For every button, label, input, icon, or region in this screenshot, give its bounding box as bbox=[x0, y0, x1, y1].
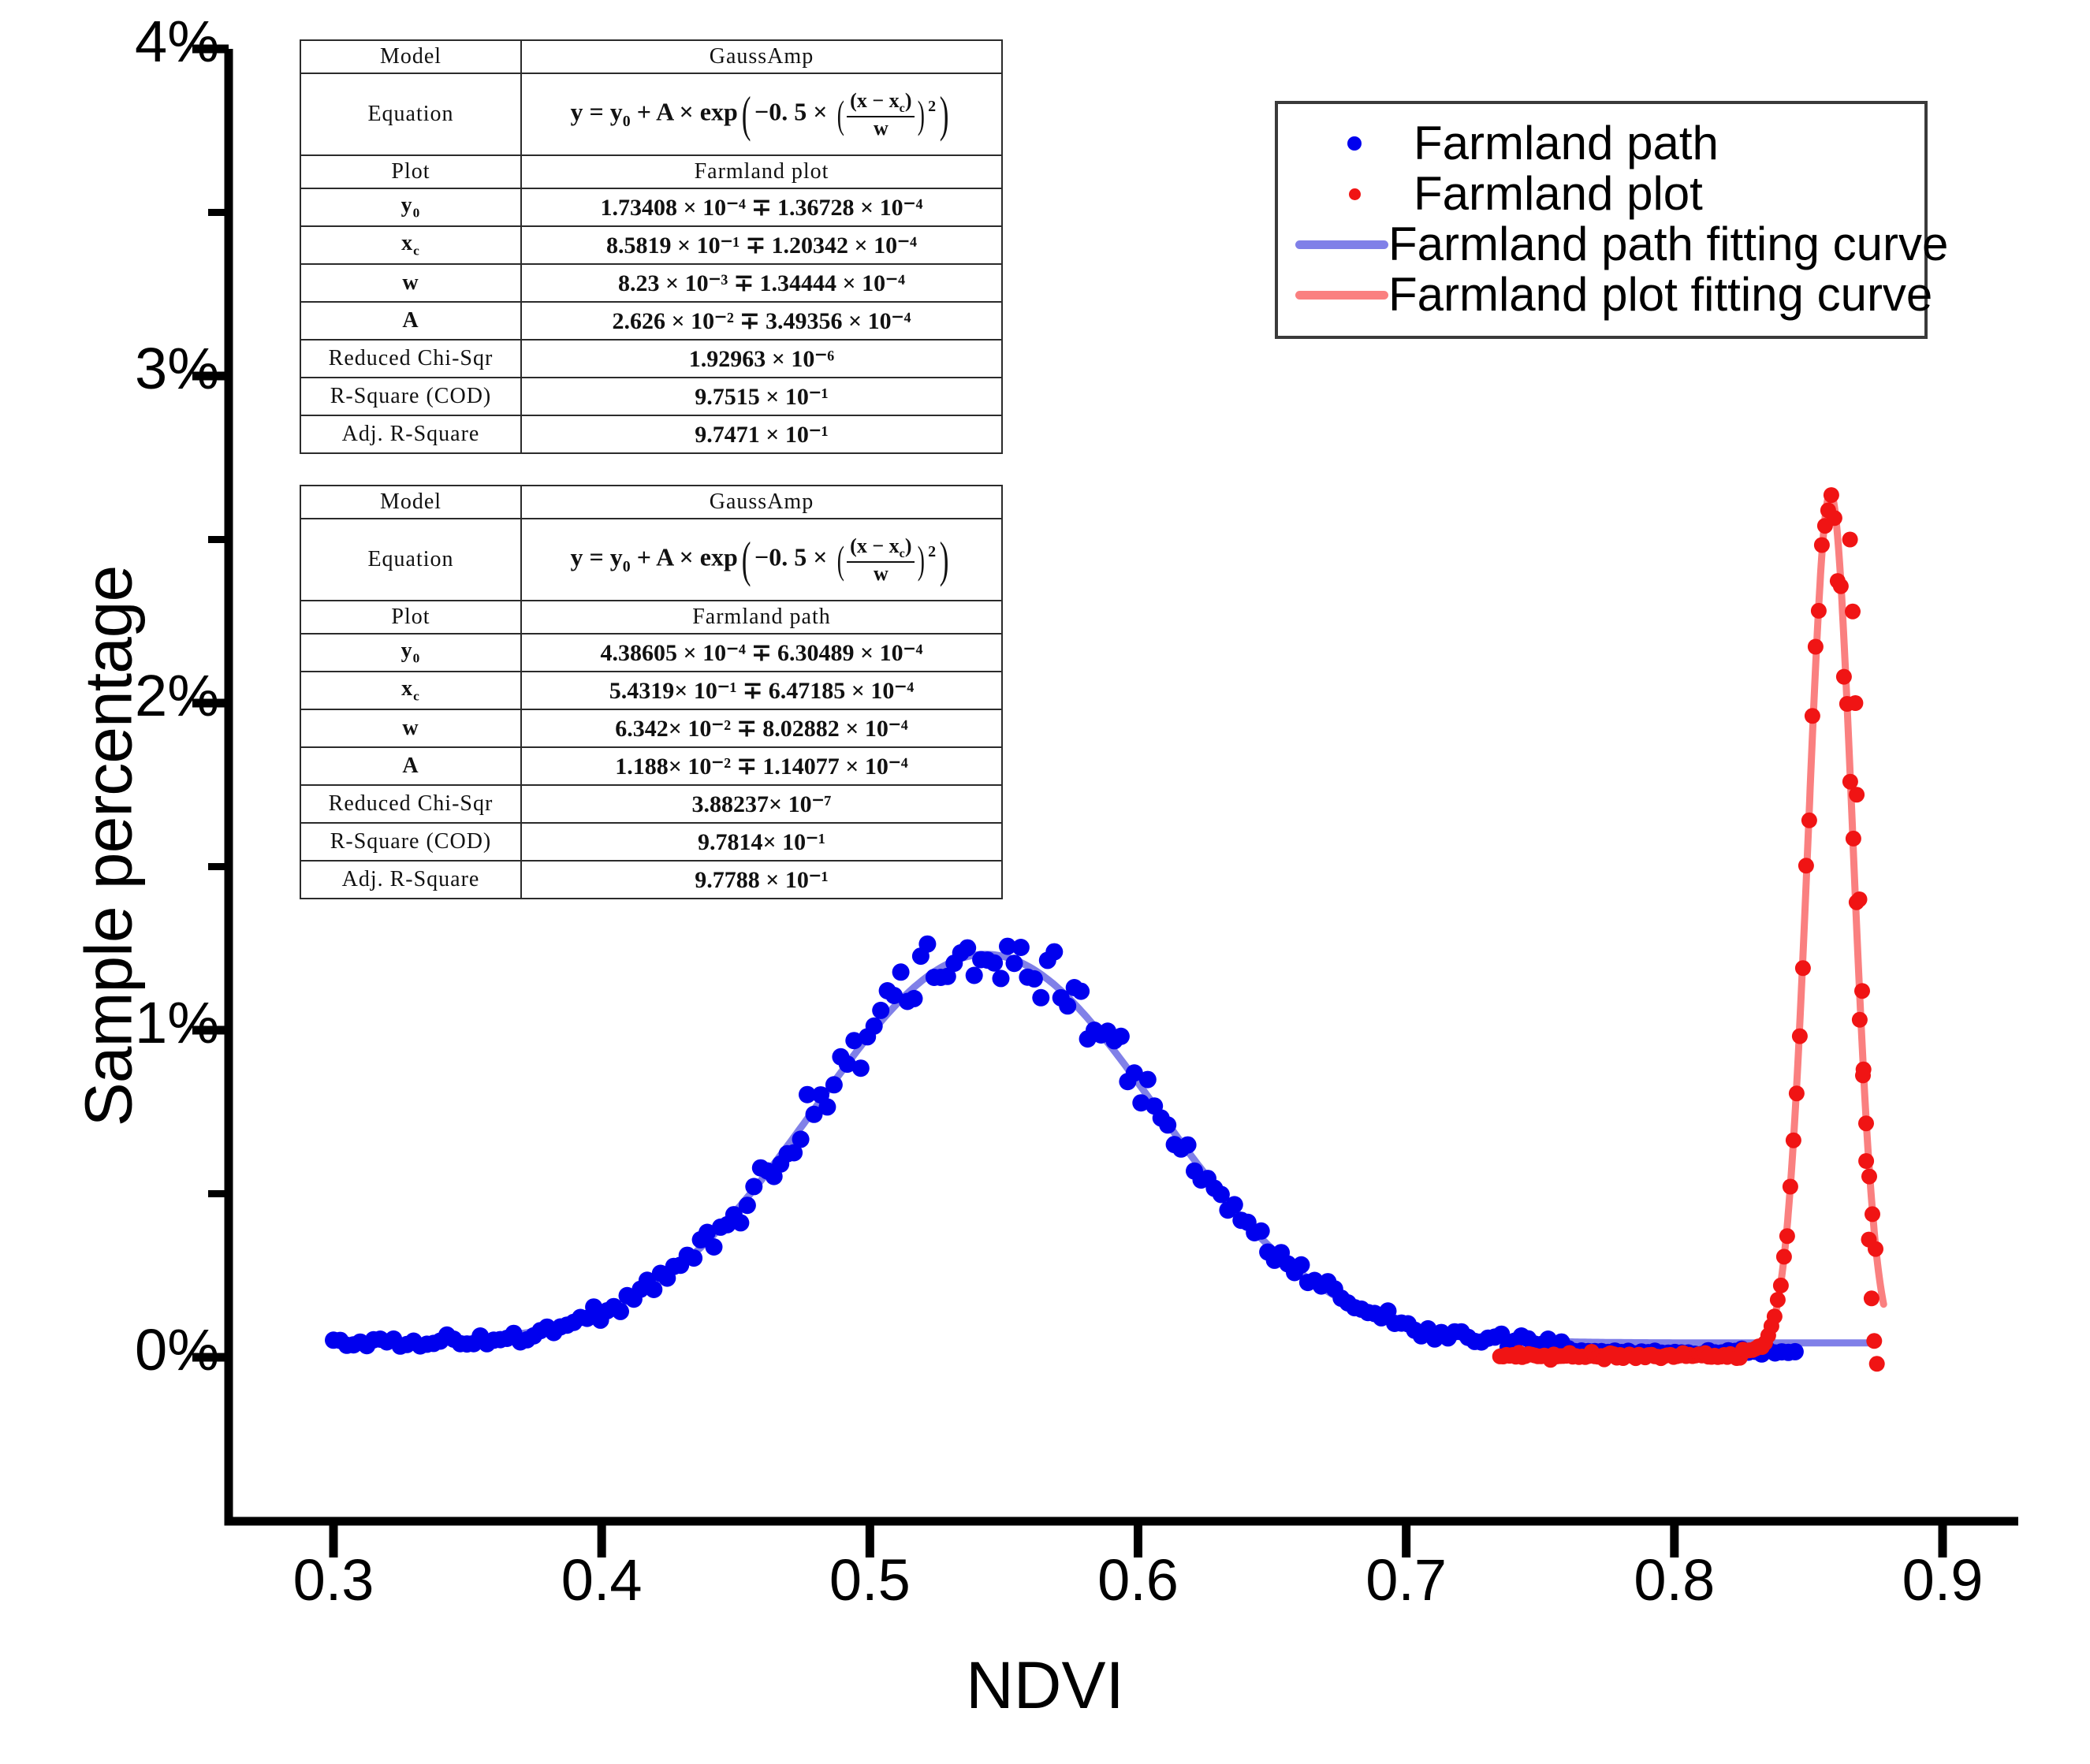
data-point bbox=[1824, 487, 1839, 503]
data-point bbox=[612, 1303, 629, 1320]
row-value-plot: Farmland plot bbox=[521, 155, 1002, 188]
table-row: xc 5.4319× 10⁻¹ ∓ 6.47185 × 10⁻⁴ bbox=[300, 672, 1002, 709]
legend-marker-line-blue bbox=[1295, 240, 1388, 249]
data-point bbox=[985, 955, 1003, 972]
x-tick-label: 0.9 bbox=[1864, 1546, 2021, 1613]
row-value-adj-r-square: 9.7788 × 10⁻¹ bbox=[521, 861, 1002, 899]
row-label-reduced-chi-sqr: Reduced Chi-Sqr bbox=[300, 340, 521, 378]
data-point bbox=[792, 1130, 810, 1148]
table-row: y0 4.38605 × 10⁻⁴ ∓ 6.30489 × 10⁻⁴ bbox=[300, 634, 1002, 672]
data-point bbox=[1767, 1308, 1783, 1324]
data-point bbox=[1808, 639, 1824, 655]
eq-num: (x − x bbox=[850, 89, 899, 112]
table-row: R-Square (COD) 9.7515 × 10⁻¹ bbox=[300, 378, 1002, 415]
data-point bbox=[959, 940, 976, 957]
legend-item-farmland-plot: Farmland plot bbox=[1295, 169, 1907, 219]
row-label-xc: xc bbox=[300, 672, 521, 709]
eq-lhs: y = y bbox=[571, 542, 623, 571]
data-point bbox=[1852, 1012, 1868, 1028]
legend-label: Farmland path fitting curve bbox=[1388, 221, 1948, 268]
x-axis-title: NDVI bbox=[0, 1647, 2090, 1724]
data-point bbox=[732, 1214, 749, 1231]
chart-legend: Farmland path Farmland plot Farmland pat… bbox=[1275, 101, 1928, 339]
table-row: A 2.626 × 10⁻² ∓ 3.49356 × 10⁻⁴ bbox=[300, 302, 1002, 340]
data-point bbox=[1856, 1062, 1872, 1077]
data-point bbox=[1012, 939, 1030, 956]
legend-item-farmland-plot-fitting-curve: Farmland plot fitting curve bbox=[1295, 270, 1907, 320]
row-value-a: 2.626 × 10⁻² ∓ 3.49356 × 10⁻⁴ bbox=[521, 302, 1002, 340]
data-point bbox=[1845, 604, 1861, 620]
row-label-y0: y0 bbox=[300, 188, 521, 226]
data-point bbox=[1032, 989, 1049, 1007]
x-tick-label: 0.8 bbox=[1596, 1546, 1753, 1613]
table-row: Equation y = y0 + A × exp(−0. 5 × ((x − … bbox=[300, 519, 1002, 601]
data-point bbox=[818, 1098, 836, 1115]
eq-numclose: ) bbox=[905, 534, 912, 557]
data-point bbox=[739, 1196, 756, 1214]
data-point bbox=[1827, 510, 1842, 526]
eq-numclose: ) bbox=[905, 89, 912, 112]
row-label-w: w bbox=[300, 709, 521, 747]
y-tick-label: 4% bbox=[135, 8, 219, 75]
row-value-xc: 8.5819 × 10⁻¹ ∓ 1.20342 × 10⁻⁴ bbox=[521, 226, 1002, 264]
data-point bbox=[1786, 1133, 1801, 1148]
row-label-model: Model bbox=[300, 40, 521, 73]
table-row: w 6.342× 10⁻² ∓ 8.02882 × 10⁻⁴ bbox=[300, 709, 1002, 747]
row-label-adj-r-square: Adj. R-Square bbox=[300, 861, 521, 899]
data-point bbox=[1805, 708, 1820, 724]
data-point bbox=[1865, 1206, 1880, 1222]
eq-sub0: 0 bbox=[623, 558, 631, 575]
data-point bbox=[1779, 1228, 1795, 1244]
legend-label: Farmland path bbox=[1414, 120, 1719, 167]
x-tick-label: 0.5 bbox=[791, 1546, 948, 1613]
x-tick-label: 0.4 bbox=[523, 1546, 680, 1613]
data-point bbox=[1861, 1169, 1877, 1185]
data-point bbox=[1846, 831, 1861, 847]
table-row: xc 8.5819 × 10⁻¹ ∓ 1.20342 × 10⁻⁴ bbox=[300, 226, 1002, 264]
row-label-y0: y0 bbox=[300, 634, 521, 672]
data-point bbox=[1006, 955, 1023, 972]
data-point bbox=[866, 1018, 883, 1035]
data-point bbox=[906, 990, 923, 1007]
data-point bbox=[993, 969, 1010, 987]
table-row: R-Square (COD) 9.7814× 10⁻¹ bbox=[300, 823, 1002, 861]
row-label-xc: xc bbox=[300, 226, 521, 264]
row-value-equation: y = y0 + A × exp(−0. 5 × ((x − xc)w)2) bbox=[521, 73, 1002, 155]
row-label-a: A bbox=[300, 302, 521, 340]
eq-den: w bbox=[847, 563, 915, 584]
data-point bbox=[1858, 1153, 1874, 1169]
data-point bbox=[1776, 1249, 1792, 1264]
fit-statistics-table-farmland-path: Model GaussAmp Equation y = y0 + A × exp… bbox=[300, 485, 1003, 899]
legend-label: Farmland plot fitting curve bbox=[1388, 271, 1932, 318]
data-point bbox=[1801, 813, 1817, 828]
row-value-model: GaussAmp bbox=[521, 40, 1002, 73]
data-point bbox=[1139, 1071, 1157, 1089]
eq-sub0: 0 bbox=[623, 113, 631, 130]
row-value-equation: y = y0 + A × exp(−0. 5 × ((x − xc)w)2) bbox=[521, 519, 1002, 601]
table-row: Model GaussAmp bbox=[300, 40, 1002, 73]
eq-mid: + A × exp bbox=[631, 542, 738, 571]
data-point bbox=[1864, 1290, 1880, 1306]
data-point bbox=[1849, 787, 1865, 802]
data-point bbox=[1045, 943, 1063, 961]
row-value-model: GaussAmp bbox=[521, 486, 1002, 519]
legend-marker-dot-blue bbox=[1295, 136, 1414, 151]
row-value-adj-r-square: 9.7471 × 10⁻¹ bbox=[521, 415, 1002, 453]
eq-neg: −0. 5 × bbox=[754, 97, 833, 125]
x-tick-label: 0.3 bbox=[255, 1546, 412, 1613]
x-tick-label: 0.6 bbox=[1060, 1546, 1217, 1613]
row-value-w: 6.342× 10⁻² ∓ 8.02882 × 10⁻⁴ bbox=[521, 709, 1002, 747]
data-point bbox=[1059, 997, 1076, 1014]
table-row: Plot Farmland path bbox=[300, 601, 1002, 634]
data-point bbox=[1858, 1115, 1874, 1131]
row-value-xc: 5.4319× 10⁻¹ ∓ 6.47185 × 10⁻⁴ bbox=[521, 672, 1002, 709]
eq-neg: −0. 5 × bbox=[754, 542, 833, 571]
row-label-w: w bbox=[300, 264, 521, 302]
data-point bbox=[1773, 1278, 1789, 1293]
data-point bbox=[1226, 1196, 1243, 1213]
data-point bbox=[1786, 1343, 1804, 1360]
row-label-a: A bbox=[300, 747, 521, 785]
table-row: Reduced Chi-Sqr 1.92963 × 10⁻⁶ bbox=[300, 340, 1002, 378]
eq-power: 2 bbox=[928, 98, 936, 115]
legend-item-farmland-path-fitting-curve: Farmland path fitting curve bbox=[1295, 219, 1907, 270]
data-point bbox=[745, 1178, 762, 1195]
data-point bbox=[892, 963, 910, 981]
data-point bbox=[852, 1059, 870, 1077]
row-label-adj-r-square: Adj. R-Square bbox=[300, 415, 521, 453]
eq-power: 2 bbox=[928, 543, 936, 560]
eq-mid: + A × exp bbox=[631, 97, 738, 125]
row-label-plot: Plot bbox=[300, 601, 521, 634]
y-tick-label: 3% bbox=[135, 335, 219, 402]
row-label-r-square: R-Square (COD) bbox=[300, 378, 521, 415]
data-point bbox=[1866, 1333, 1882, 1349]
table-row: A 1.188× 10⁻² ∓ 1.14077 × 10⁻⁴ bbox=[300, 747, 1002, 785]
row-value-y0: 4.38605 × 10⁻⁴ ∓ 6.30489 × 10⁻⁴ bbox=[521, 634, 1002, 672]
table-row: Adj. R-Square 9.7788 × 10⁻¹ bbox=[300, 861, 1002, 899]
table-row: w 8.23 × 10⁻³ ∓ 1.34444 × 10⁻⁴ bbox=[300, 264, 1002, 302]
data-point bbox=[825, 1076, 843, 1093]
data-point bbox=[1854, 983, 1870, 999]
data-point bbox=[1293, 1256, 1310, 1274]
data-point bbox=[1159, 1116, 1176, 1133]
data-point bbox=[1789, 1085, 1805, 1101]
row-label-equation: Equation bbox=[300, 519, 521, 601]
data-point bbox=[1783, 1179, 1798, 1195]
row-value-r-square: 9.7515 × 10⁻¹ bbox=[521, 378, 1002, 415]
data-point bbox=[966, 967, 983, 984]
data-point bbox=[1869, 1356, 1885, 1371]
table-row: Plot Farmland plot bbox=[300, 155, 1002, 188]
data-point bbox=[1792, 1029, 1808, 1044]
table-row: Reduced Chi-Sqr 3.88237× 10⁻⁷ bbox=[300, 785, 1002, 823]
y-tick-label: 1% bbox=[135, 989, 219, 1056]
table-row: Equation y = y0 + A × exp(−0. 5 × ((x − … bbox=[300, 73, 1002, 155]
eq-numsub: c bbox=[900, 102, 905, 115]
data-point bbox=[1861, 1232, 1877, 1248]
y-axis-title: Sample percentage bbox=[71, 492, 147, 1201]
data-point bbox=[1112, 1028, 1130, 1045]
row-label-r-square: R-Square (COD) bbox=[300, 823, 521, 861]
data-point bbox=[1770, 1292, 1786, 1308]
data-point bbox=[1253, 1223, 1270, 1240]
data-point bbox=[1811, 603, 1827, 619]
eq-numsub: c bbox=[900, 547, 905, 560]
data-point bbox=[685, 1249, 702, 1267]
row-value-reduced-chi-sqr: 1.92963 × 10⁻⁶ bbox=[521, 340, 1002, 378]
row-label-equation: Equation bbox=[300, 73, 521, 155]
data-point bbox=[1847, 695, 1863, 711]
fit-statistics-table-farmland-plot: Model GaussAmp Equation y = y0 + A × exp… bbox=[300, 39, 1003, 454]
row-value-y0: 1.73408 × 10⁻⁴ ∓ 1.36728 × 10⁻⁴ bbox=[521, 188, 1002, 226]
data-point bbox=[1026, 970, 1043, 988]
data-point bbox=[872, 1002, 889, 1019]
y-tick-label: 0% bbox=[135, 1316, 219, 1383]
eq-lhs: y = y bbox=[571, 97, 623, 125]
legend-label: Farmland plot bbox=[1414, 170, 1703, 218]
row-label-reduced-chi-sqr: Reduced Chi-Sqr bbox=[300, 785, 521, 823]
data-point bbox=[1072, 983, 1090, 1000]
data-point bbox=[1798, 858, 1814, 873]
data-point bbox=[1179, 1137, 1197, 1154]
data-point bbox=[1852, 891, 1868, 907]
chart-root: Sample percentage NDVI 0%1%2%3%4% 0.30.4… bbox=[0, 0, 2090, 1764]
eq-den: w bbox=[847, 117, 915, 139]
row-label-plot: Plot bbox=[300, 155, 521, 188]
data-point bbox=[1842, 532, 1858, 548]
legend-marker-line-red bbox=[1295, 291, 1388, 300]
table-row: Adj. R-Square 9.7471 × 10⁻¹ bbox=[300, 415, 1002, 453]
data-point bbox=[1814, 538, 1830, 553]
table-row: Model GaussAmp bbox=[300, 486, 1002, 519]
data-point bbox=[645, 1281, 662, 1298]
data-point bbox=[1836, 669, 1852, 685]
data-point bbox=[1833, 579, 1849, 594]
data-point bbox=[706, 1238, 723, 1256]
data-point bbox=[1795, 960, 1811, 976]
row-value-w: 8.23 × 10⁻³ ∓ 1.34444 × 10⁻⁴ bbox=[521, 264, 1002, 302]
data-point bbox=[918, 936, 936, 953]
table-row: y0 1.73408 × 10⁻⁴ ∓ 1.36728 × 10⁻⁴ bbox=[300, 188, 1002, 226]
row-value-reduced-chi-sqr: 3.88237× 10⁻⁷ bbox=[521, 785, 1002, 823]
legend-marker-dot-red bbox=[1295, 188, 1414, 200]
row-value-plot: Farmland path bbox=[521, 601, 1002, 634]
row-value-r-square: 9.7814× 10⁻¹ bbox=[521, 823, 1002, 861]
y-tick-label: 2% bbox=[135, 662, 219, 729]
legend-item-farmland-path: Farmland path bbox=[1295, 118, 1907, 169]
row-label-model: Model bbox=[300, 486, 521, 519]
eq-num: (x − x bbox=[850, 534, 899, 557]
row-value-a: 1.188× 10⁻² ∓ 1.14077 × 10⁻⁴ bbox=[521, 747, 1002, 785]
x-tick-label: 0.7 bbox=[1328, 1546, 1485, 1613]
